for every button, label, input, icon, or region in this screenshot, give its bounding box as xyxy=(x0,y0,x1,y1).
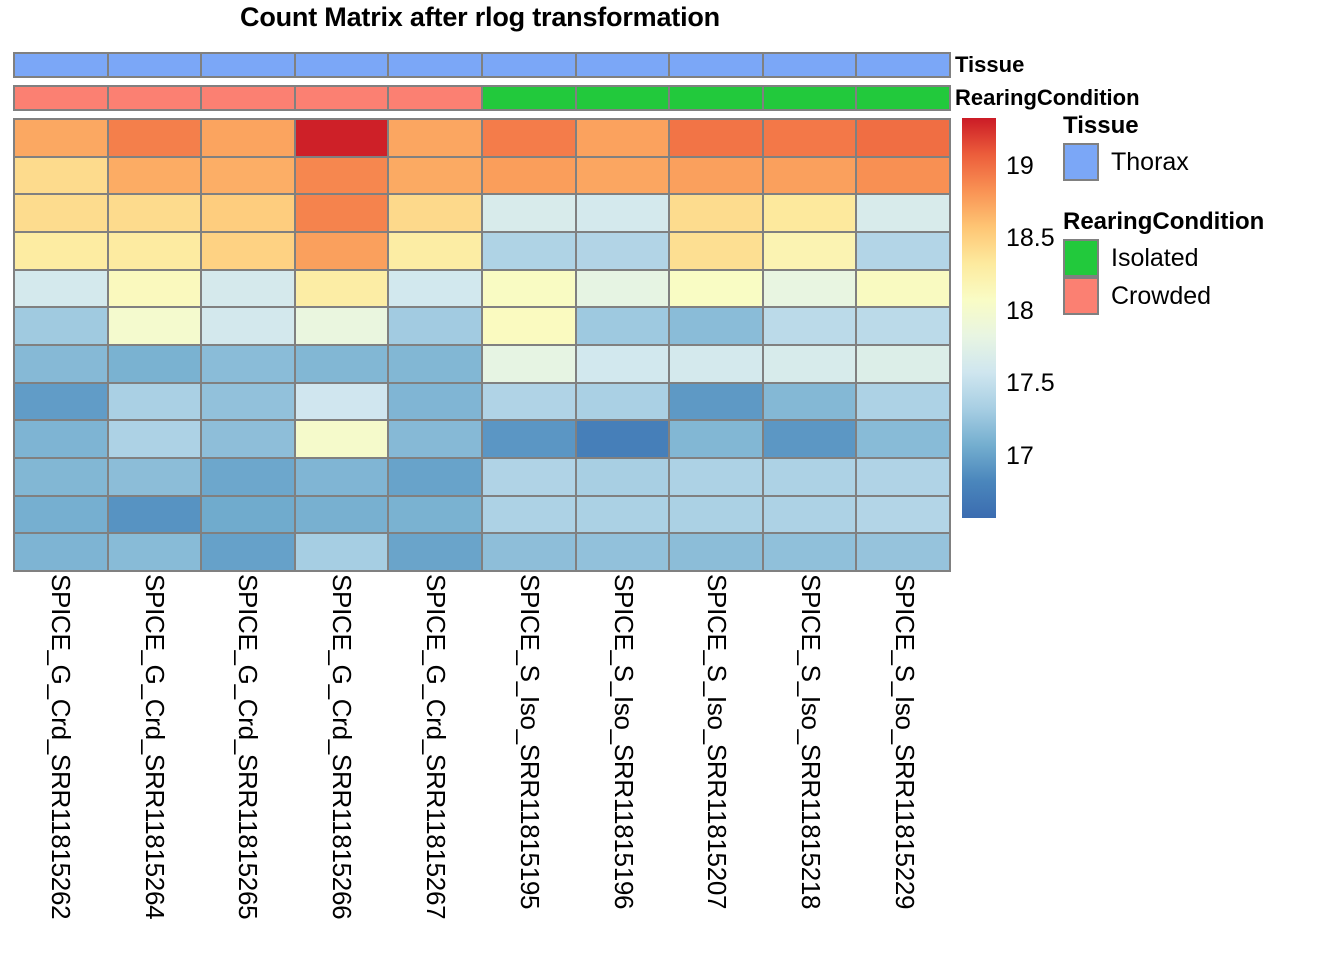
heatmap-cell xyxy=(764,497,858,533)
heatmap-cell xyxy=(577,271,671,307)
heatmap-cell xyxy=(109,120,203,156)
heatmap-cell xyxy=(857,346,949,382)
heatmap-cell xyxy=(483,421,577,457)
heatmap-cell xyxy=(857,308,949,344)
heatmap-cell xyxy=(202,233,296,269)
colorbar-tick-labels: 1918.51817.517 xyxy=(1002,118,1072,518)
legend-label: Crowded xyxy=(1111,282,1211,311)
heatmap-cell xyxy=(764,158,858,194)
column-label: SPICE_S_Iso_SRR11815196 xyxy=(608,574,639,909)
heatmap-cell xyxy=(857,384,949,420)
heatmap-cell xyxy=(389,384,483,420)
heatmap-cell xyxy=(109,421,203,457)
column-label-slot: SPICE_G_Crd_SRR11815267 xyxy=(388,570,482,958)
heatmap-cell xyxy=(15,158,109,194)
column-label: SPICE_G_Crd_SRR11815265 xyxy=(233,574,264,919)
heatmap-cell xyxy=(202,459,296,495)
heatmap-row xyxy=(15,120,949,158)
heatmap-cell xyxy=(764,421,858,457)
heatmap-cell xyxy=(202,534,296,570)
column-label: SPICE_G_Crd_SRR11815264 xyxy=(139,574,170,919)
tissue-annotation-cell xyxy=(670,54,764,76)
rearing-annotation-cell xyxy=(202,87,296,109)
heatmap-cell xyxy=(483,497,577,533)
colorbar-tick-label: 18 xyxy=(1006,299,1034,324)
heatmap-cell xyxy=(109,271,203,307)
tissue-annotation-cell xyxy=(483,54,577,76)
page-title: Count Matrix after rlog transformation xyxy=(0,2,960,33)
heatmap-cell xyxy=(577,534,671,570)
column-label: SPICE_S_Iso_SRR11815207 xyxy=(702,574,733,909)
legend-swatch xyxy=(1063,143,1099,181)
heatmap-cell xyxy=(670,497,764,533)
heatmap-cell xyxy=(670,421,764,457)
colorbar-tick-label: 18.5 xyxy=(1006,226,1055,251)
heatmap-cell xyxy=(109,346,203,382)
heatmap-cell xyxy=(857,421,949,457)
tissue-annotation-cell xyxy=(764,54,858,76)
legend-tissue-title: Tissue xyxy=(1063,112,1189,140)
heatmap-cell xyxy=(670,346,764,382)
heatmap-cell xyxy=(296,346,390,382)
heatmap-cell xyxy=(389,271,483,307)
colorbar-tick-label: 17.5 xyxy=(1006,371,1055,396)
colorbar: 1918.51817.517 xyxy=(962,118,996,518)
heatmap-row xyxy=(15,384,949,422)
rearing-annotation-cell xyxy=(389,87,483,109)
heatmap-cell xyxy=(15,346,109,382)
column-label-slot: SPICE_S_Iso_SRR11815229 xyxy=(857,570,951,958)
tissue-annotation-cell xyxy=(202,54,296,76)
heatmap-cell xyxy=(670,384,764,420)
heatmap-cell xyxy=(15,497,109,533)
heatmap-cell xyxy=(670,120,764,156)
heatmap-cell xyxy=(764,346,858,382)
heatmap-cell xyxy=(483,195,577,231)
heatmap-cell xyxy=(577,308,671,344)
heatmap-cell xyxy=(857,158,949,194)
column-label-slot: SPICE_G_Crd_SRR11815265 xyxy=(201,570,295,958)
heatmap-cell xyxy=(389,459,483,495)
heatmap-cell xyxy=(670,233,764,269)
heatmap-row xyxy=(15,233,949,271)
heatmap-cell xyxy=(483,158,577,194)
colorbar-tick-label: 19 xyxy=(1006,154,1034,179)
rearing-annotation-cell xyxy=(15,87,109,109)
heatmap-cell xyxy=(389,120,483,156)
heatmap-cell xyxy=(483,308,577,344)
column-label-slot: SPICE_S_Iso_SRR11815207 xyxy=(670,570,764,958)
legend-swatch xyxy=(1063,277,1099,315)
heatmap-cell xyxy=(15,195,109,231)
heatmap-row xyxy=(15,271,949,309)
tissue-annotation-cell xyxy=(296,54,390,76)
heatmap-cell xyxy=(764,308,858,344)
heatmap-cell xyxy=(577,158,671,194)
heatmap-cell xyxy=(202,271,296,307)
legend-label: Isolated xyxy=(1111,244,1199,273)
heatmap-cell xyxy=(483,120,577,156)
annotation-label-tissue: Tissue xyxy=(955,52,1024,78)
rearing-annotation-cell xyxy=(857,87,949,109)
column-labels: SPICE_G_Crd_SRR11815262SPICE_G_Crd_SRR11… xyxy=(13,570,951,958)
heatmap-cell xyxy=(389,195,483,231)
heatmap-cell xyxy=(670,158,764,194)
legend-tissue: TissueThorax xyxy=(1063,112,1189,181)
column-label: SPICE_G_Crd_SRR11815266 xyxy=(326,574,357,919)
heatmap-cell xyxy=(15,308,109,344)
heatmap-cell xyxy=(296,459,390,495)
colorbar-tick-label: 17 xyxy=(1006,444,1034,469)
heatmap-cell xyxy=(577,120,671,156)
heatmap-cell xyxy=(109,459,203,495)
heatmap-cell xyxy=(202,120,296,156)
heatmap-cell xyxy=(857,233,949,269)
heatmap-cell xyxy=(483,271,577,307)
rearing-annotation-cell xyxy=(577,87,671,109)
heatmap-cell xyxy=(202,421,296,457)
heatmap-row xyxy=(15,346,949,384)
heatmap-cell xyxy=(389,308,483,344)
column-label-slot: SPICE_S_Iso_SRR11815195 xyxy=(482,570,576,958)
column-label-slot: SPICE_G_Crd_SRR11815264 xyxy=(107,570,201,958)
heatmap-cell xyxy=(389,158,483,194)
heatmap-cell xyxy=(670,459,764,495)
heatmap-cell xyxy=(577,384,671,420)
heatmap-cell xyxy=(296,308,390,344)
heatmap-cell xyxy=(202,158,296,194)
heatmap-row xyxy=(15,195,949,233)
heatmap-cell xyxy=(296,421,390,457)
heatmap-cell xyxy=(670,195,764,231)
colorbar-gradient xyxy=(962,118,996,518)
column-label-slot: SPICE_S_Iso_SRR11815196 xyxy=(576,570,670,958)
legend-label: Thorax xyxy=(1111,148,1189,177)
annotation-label-rearing: RearingCondition xyxy=(955,85,1140,111)
heatmap-plot xyxy=(13,52,951,572)
tissue-annotation-cell xyxy=(109,54,203,76)
heatmap-cell xyxy=(109,384,203,420)
legend-rearing-title: RearingCondition xyxy=(1063,208,1264,236)
heatmap-cell xyxy=(764,195,858,231)
column-label-slot: SPICE_G_Crd_SRR11815262 xyxy=(13,570,107,958)
heatmap-cell xyxy=(764,384,858,420)
heatmap-cell xyxy=(764,459,858,495)
column-label: SPICE_S_Iso_SRR11815229 xyxy=(889,574,920,909)
heatmap-row xyxy=(15,534,949,570)
heatmap-cell xyxy=(296,195,390,231)
heatmap-cell xyxy=(483,233,577,269)
heatmap-cell xyxy=(15,233,109,269)
heatmap-cell xyxy=(389,233,483,269)
heatmap-row xyxy=(15,497,949,535)
rearing-annotation-cell xyxy=(670,87,764,109)
column-label-slot: SPICE_G_Crd_SRR11815266 xyxy=(294,570,388,958)
heatmap-cell xyxy=(109,195,203,231)
heatmap-cell xyxy=(15,120,109,156)
heatmap-cell xyxy=(577,421,671,457)
heatmap-cell xyxy=(296,384,390,420)
heatmap-cell xyxy=(857,120,949,156)
legend-tissue-item[interactable]: Thorax xyxy=(1063,143,1189,181)
column-label-slot: SPICE_S_Iso_SRR11815218 xyxy=(763,570,857,958)
heatmap-cell xyxy=(15,534,109,570)
heatmap-cell xyxy=(296,158,390,194)
heatmap-cell xyxy=(483,346,577,382)
heatmap-cell xyxy=(109,158,203,194)
heatmap-row xyxy=(15,158,949,196)
heatmap-cell xyxy=(577,459,671,495)
heatmap-cell xyxy=(15,459,109,495)
annotation-row-rearing xyxy=(13,85,951,111)
heatmap-cell xyxy=(296,120,390,156)
heatmap-cell xyxy=(389,346,483,382)
heatmap-cell xyxy=(764,120,858,156)
heatmap-cell xyxy=(857,497,949,533)
rearing-annotation-cell xyxy=(764,87,858,109)
tissue-annotation-cell xyxy=(857,54,949,76)
annotation-row-tissue xyxy=(13,52,951,78)
heatmap-cell xyxy=(857,459,949,495)
heatmap-cell xyxy=(202,195,296,231)
heatmap-row xyxy=(15,421,949,459)
heatmap-cell xyxy=(389,497,483,533)
heatmap-cell xyxy=(202,346,296,382)
heatmap-cell xyxy=(483,534,577,570)
heatmap-cell xyxy=(483,459,577,495)
tissue-annotation-cell xyxy=(389,54,483,76)
heatmap-cell xyxy=(857,195,949,231)
tissue-annotation-cell xyxy=(15,54,109,76)
heatmap-cell xyxy=(15,271,109,307)
heatmap-cell xyxy=(764,534,858,570)
tissue-annotation-cell xyxy=(577,54,671,76)
heatmap-cell xyxy=(670,308,764,344)
legend-swatch xyxy=(1063,239,1099,277)
rearing-annotation-cell xyxy=(483,87,577,109)
heatmap-cell xyxy=(764,271,858,307)
heatmap-row xyxy=(15,459,949,497)
heatmap-cell xyxy=(109,497,203,533)
heatmap-cell xyxy=(15,421,109,457)
heatmap-cell xyxy=(296,534,390,570)
heatmap-grid xyxy=(13,118,951,572)
heatmap-cell xyxy=(670,271,764,307)
heatmap-cell xyxy=(202,384,296,420)
heatmap-cell xyxy=(857,271,949,307)
column-label: SPICE_G_Crd_SRR11815262 xyxy=(45,574,76,919)
heatmap-cell xyxy=(764,233,858,269)
heatmap-cell xyxy=(577,195,671,231)
column-label: SPICE_S_Iso_SRR11815195 xyxy=(514,574,545,909)
heatmap-cell xyxy=(109,308,203,344)
legend-rearing-item[interactable]: Isolated xyxy=(1063,239,1264,277)
rearing-annotation-cell xyxy=(296,87,390,109)
heatmap-row xyxy=(15,308,949,346)
heatmap-cell xyxy=(296,233,390,269)
heatmap-cell xyxy=(109,233,203,269)
heatmap-cell xyxy=(577,233,671,269)
heatmap-cell xyxy=(670,534,764,570)
column-label: SPICE_G_Crd_SRR11815267 xyxy=(420,574,451,919)
heatmap-cell xyxy=(857,534,949,570)
heatmap-cell xyxy=(577,497,671,533)
heatmap-cell xyxy=(15,384,109,420)
heatmap-cell xyxy=(389,421,483,457)
legend-rearing-item[interactable]: Crowded xyxy=(1063,277,1264,315)
heatmap-cell xyxy=(389,534,483,570)
heatmap-cell xyxy=(296,271,390,307)
legend-rearingcondition: RearingConditionIsolatedCrowded xyxy=(1063,208,1264,315)
heatmap-cell xyxy=(577,346,671,382)
column-label: SPICE_S_Iso_SRR11815218 xyxy=(795,574,826,909)
heatmap-cell xyxy=(202,497,296,533)
heatmap-cell xyxy=(109,534,203,570)
heatmap-cell xyxy=(202,308,296,344)
heatmap-cell xyxy=(483,384,577,420)
rearing-annotation-cell xyxy=(109,87,203,109)
heatmap-cell xyxy=(296,497,390,533)
